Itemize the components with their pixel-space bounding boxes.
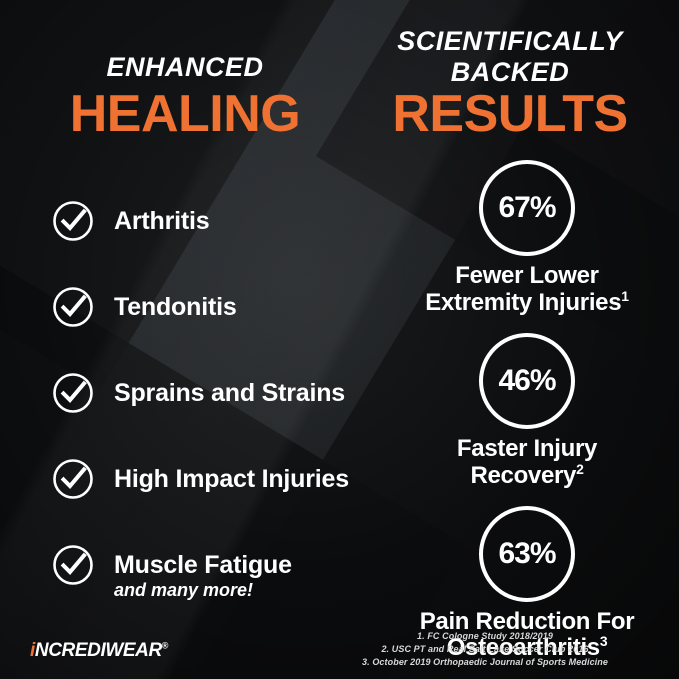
stat-caption-line-2: Extremity Injuries <box>425 289 621 316</box>
footnote-citations: 1. FC Cologne Study 2018/2019 2. USC PT … <box>335 630 635 669</box>
stat-percent-value: 67% <box>498 193 555 223</box>
list-item-label: Arthritis <box>114 207 209 236</box>
stat-percent-value: 63% <box>498 539 555 569</box>
stat-caption-line-2: Recovery <box>470 462 576 489</box>
check-circle-icon <box>52 544 94 586</box>
list-item: Arthritis <box>52 178 397 264</box>
stat-circle-badge: 46% <box>479 333 575 429</box>
right-headline: RESULTS <box>355 88 665 140</box>
stat-caption: Faster Injury Recovery2 <box>382 436 672 490</box>
list-item-label: High Impact Injuries <box>114 465 349 494</box>
registered-trademark-mark: ® <box>162 641 168 651</box>
statistics-group: 67% Fewer Lower Extremity Injuries1 46% … <box>382 160 672 662</box>
check-circle-icon <box>52 372 94 414</box>
logo-wordmark: NCREDIWEAR <box>35 640 162 661</box>
left-kicker: ENHANCED <box>20 52 350 83</box>
stat-caption-line-1: Fewer Lower <box>455 262 598 289</box>
list-item-label: Sprains and Strains <box>114 379 345 408</box>
check-circle-icon <box>52 286 94 328</box>
footnote-line-3: 3. October 2019 Orthopaedic Journal of S… <box>335 656 635 669</box>
benefits-list: Arthritis Tendonitis S <box>52 178 397 608</box>
promotional-infographic: ENHANCED HEALING Arthritis <box>0 0 679 679</box>
stat-percent-value: 46% <box>498 366 555 396</box>
list-item-label: Muscle Fatigue <box>114 551 292 580</box>
list-item-label: Tendonitis <box>114 293 237 322</box>
stat-footnote-ref: 1 <box>621 288 628 304</box>
stat-caption: Fewer Lower Extremity Injuries1 <box>382 263 672 317</box>
footnote-line-2: 2. USC PT and Real Salt Lake Soccer Club… <box>335 643 635 656</box>
stat-caption-line-1: Faster Injury <box>457 435 597 462</box>
left-headline: HEALING <box>20 88 350 140</box>
and-many-more-note: and many more! <box>114 580 253 601</box>
check-circle-icon <box>52 200 94 242</box>
stat-footnote-ref: 2 <box>576 461 583 477</box>
stat-circle-badge: 67% <box>479 160 575 256</box>
incrediwear-logo: iNCREDIWEAR® <box>30 640 168 662</box>
stat-block: 46% Faster Injury Recovery2 <box>382 333 672 490</box>
check-circle-icon <box>52 458 94 500</box>
stat-circle-badge: 63% <box>479 506 575 602</box>
footnote-line-1: 1. FC Cologne Study 2018/2019 <box>335 630 635 643</box>
list-item: Sprains and Strains <box>52 350 397 436</box>
list-item: High Impact Injuries <box>52 436 397 522</box>
right-kicker: SCIENTIFICALLY BACKED <box>355 26 665 89</box>
stat-block: 67% Fewer Lower Extremity Injuries1 <box>382 160 672 317</box>
list-item: Tendonitis <box>52 264 397 350</box>
